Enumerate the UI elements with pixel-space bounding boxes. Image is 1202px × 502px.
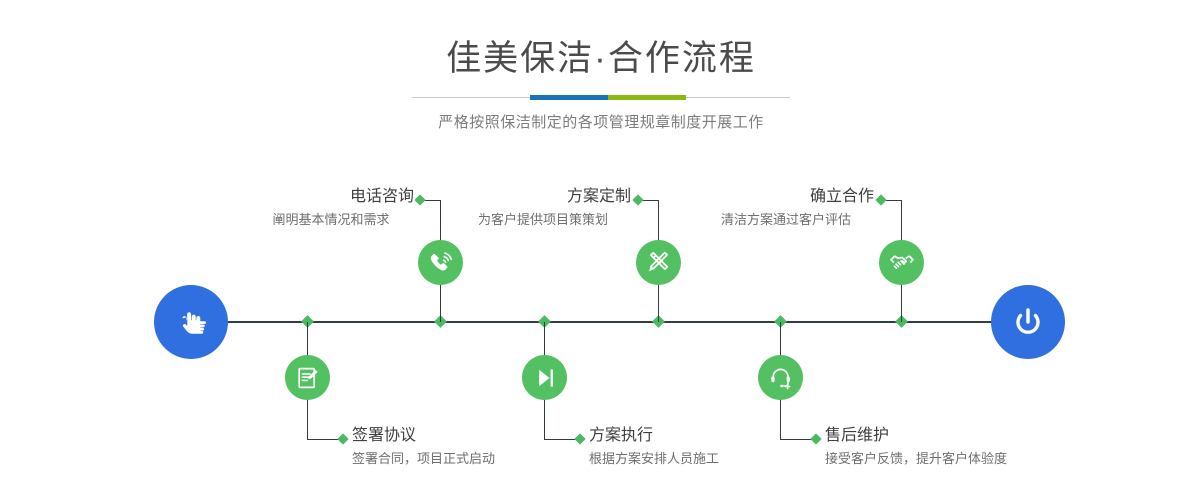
- step-desc: 阐明基本情况和需求: [248, 210, 414, 230]
- step-title: 方案定制: [455, 186, 631, 208]
- step-title: 电话咨询: [248, 186, 414, 208]
- flow-diagram-page: 佳美保洁·合作流程 严格按照保洁制定的各项管理规章制度开展工作: [0, 0, 1202, 502]
- connector-marker: [414, 194, 425, 205]
- divider-segment-green: [608, 95, 686, 100]
- step-icon-badge-6: [758, 355, 803, 400]
- connector-marker: [632, 194, 643, 205]
- step-title: 方案执行: [589, 425, 719, 447]
- page-title: 佳美保洁·合作流程: [0, 38, 1202, 80]
- step-label-bottom-3: 售后维护 接受客户反馈，提升客户体验度: [825, 425, 1007, 469]
- step-icon-badge-5: [879, 240, 924, 285]
- timeline-end-endpoint: [991, 285, 1065, 359]
- step-label-bottom-1: 签署协议 签署合同，项目正式启动: [352, 425, 495, 469]
- step-desc: 签署合同，项目正式启动: [352, 449, 495, 469]
- page-header: 佳美保洁·合作流程 严格按照保洁制定的各项管理规章制度开展工作: [0, 0, 1202, 133]
- pencil-ruler-icon: [646, 250, 672, 276]
- title-divider: [412, 94, 790, 101]
- page-subtitle: 严格按照保洁制定的各项管理规章制度开展工作: [0, 113, 1202, 133]
- step-desc: 接受客户反馈，提升客户体验度: [825, 449, 1007, 469]
- handshake-icon: [889, 250, 915, 276]
- support-agent-icon: [768, 365, 794, 391]
- step-title: 售后维护: [825, 425, 1007, 447]
- step-icon-badge-4: [522, 355, 567, 400]
- step-desc: 为客户提供项目策策划: [455, 210, 631, 230]
- play-execute-icon: [532, 365, 558, 391]
- connector-marker: [810, 433, 821, 444]
- document-edit-icon: [295, 365, 321, 391]
- step-desc: 根据方案安排人员施工: [589, 449, 719, 469]
- power-icon: [1008, 302, 1048, 342]
- step-label-bottom-2: 方案执行 根据方案安排人员施工: [589, 425, 719, 469]
- connector-marker: [875, 194, 886, 205]
- step-title: 确立合作: [698, 186, 874, 208]
- divider-segment-blue: [530, 95, 608, 100]
- step-label-top-1: 电话咨询 阐明基本情况和需求: [248, 186, 414, 230]
- step-icon-badge-2: [285, 355, 330, 400]
- step-label-top-3: 确立合作 清洁方案通过客户评估: [698, 186, 874, 230]
- step-desc: 清洁方案通过客户评估: [698, 210, 874, 230]
- step-icon-badge-1: [418, 240, 463, 285]
- pointing-hand-icon: [171, 302, 211, 342]
- connector-marker: [337, 433, 348, 444]
- phone-call-icon: [428, 250, 454, 276]
- timeline-start-endpoint: [154, 285, 228, 359]
- step-title: 签署协议: [352, 425, 495, 447]
- connector-marker: [574, 433, 585, 444]
- step-icon-badge-3: [636, 240, 681, 285]
- step-label-top-2: 方案定制 为客户提供项目策策划: [455, 186, 631, 230]
